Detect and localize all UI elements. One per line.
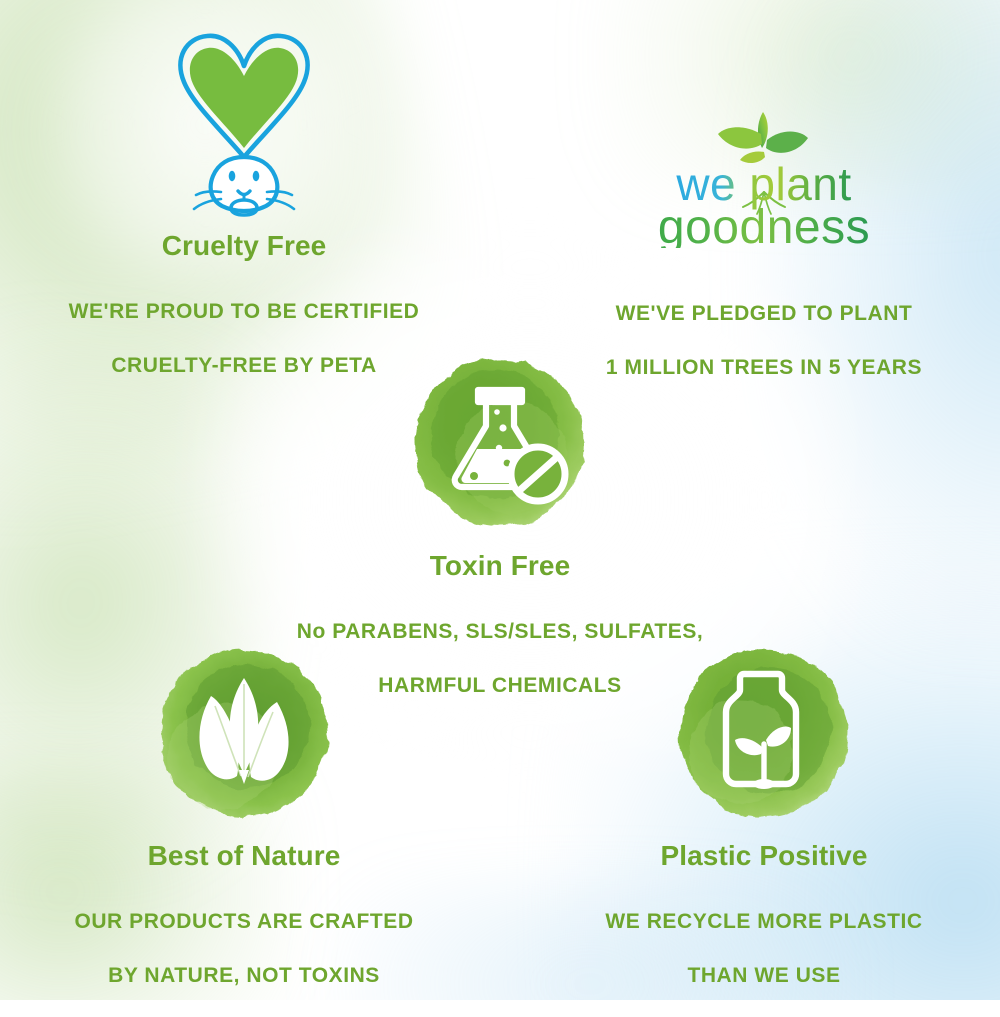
subtitle-line: OUR PRODUCTS ARE CRAFTED xyxy=(20,909,468,936)
we-plant-goodness-logo: we plant goodness xyxy=(614,100,914,248)
logo-word-line-2: goodness xyxy=(658,201,870,248)
best-of-nature-badge xyxy=(151,640,337,826)
bottle-with-sprout-icon xyxy=(671,640,857,826)
toxin-free-badge xyxy=(407,350,593,536)
cruelty-free-title: Cruelty Free xyxy=(20,230,468,262)
subtitle-line: WE'VE PLEDGED TO PLANT xyxy=(540,301,988,328)
we-plant-goodness-logo-wrap: we plant goodness xyxy=(540,100,988,248)
plastic-positive-title: Plastic Positive xyxy=(540,840,988,872)
flask-no-toxins-icon xyxy=(407,350,593,536)
peta-cruelty-free-bunny-icon xyxy=(149,24,339,224)
plastic-positive-subtitle: WE RECYCLE MORE PLASTIC THAN WE USE xyxy=(540,882,988,1016)
feature-best-of-nature: Best of Nature OUR PRODUCTS ARE CRAFTED … xyxy=(20,640,468,1017)
toxin-free-title: Toxin Free xyxy=(280,550,720,582)
subtitle-line: WE RECYCLE MORE PLASTIC xyxy=(540,909,988,936)
subtitle-line: THAN WE USE xyxy=(540,963,988,990)
feature-plastic-positive: Plastic Positive WE RECYCLE MORE PLASTIC… xyxy=(540,640,988,1017)
plastic-positive-badge xyxy=(671,640,857,826)
subtitle-line: WE'RE PROUD TO BE CERTIFIED xyxy=(20,299,468,326)
cruelty-free-icon-wrap xyxy=(20,24,468,224)
subtitle-line: BY NATURE, NOT TOXINS xyxy=(20,963,468,990)
best-of-nature-title: Best of Nature xyxy=(20,840,468,872)
best-of-nature-subtitle: OUR PRODUCTS ARE CRAFTED BY NATURE, NOT … xyxy=(20,882,468,1016)
three-leaves-icon xyxy=(151,640,337,826)
